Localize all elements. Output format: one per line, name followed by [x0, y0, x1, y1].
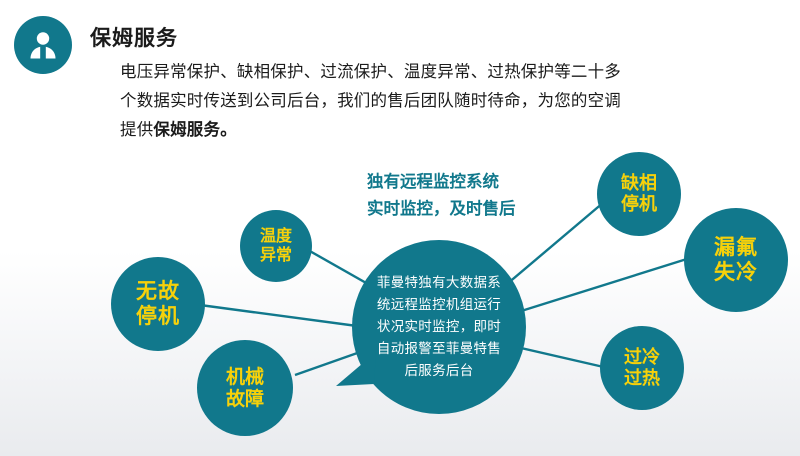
diagram-caption: 独有远程监控系统 实时监控，及时售后: [367, 168, 516, 222]
page-title: 保姆服务: [90, 22, 178, 52]
node-no-fault-stop-line-2: 停机: [136, 304, 180, 329]
node-mechanical-fault-line-1: 机械: [226, 366, 264, 388]
diagram-caption-line-1: 独有远程监控系统: [367, 168, 516, 195]
node-no-fault-stop[interactable]: 无故 停机: [111, 257, 205, 351]
header-description-line-1: 电压异常保护、缺相保护、过流保护、温度异常、过热保护等二十多: [120, 57, 760, 86]
node-refrigerant-leak-line-2: 失冷: [714, 260, 758, 285]
header-description-emphasis: 保姆服务。: [153, 120, 237, 139]
node-mechanical-fault[interactable]: 机械 故障: [197, 340, 293, 436]
node-overcool-overheat-line-2: 过热: [624, 368, 660, 389]
node-phase-loss-stop-line-1: 缺相: [621, 173, 657, 194]
node-refrigerant-leak[interactable]: 漏氟 失冷: [684, 208, 788, 312]
center-node-line-3: 状况实时监控，即时: [373, 316, 505, 338]
node-no-fault-stop-line-1: 无故: [136, 279, 180, 304]
diagram-caption-line-2: 实时监控，及时售后: [367, 195, 516, 222]
node-overcool-overheat-line-1: 过冷: [624, 347, 660, 368]
node-phase-loss-stop-line-2: 停机: [621, 194, 657, 215]
header-description-line-2: 个数据实时传送到公司后台，我们的售后团队随时待命，为您的空调: [120, 86, 760, 115]
node-mechanical-fault-line-2: 故障: [226, 388, 264, 410]
node-temp-abnormal-line-2: 异常: [260, 246, 292, 265]
center-node-line-4: 自动报警至菲曼特售: [373, 338, 505, 360]
node-overcool-overheat[interactable]: 过冷 过热: [600, 326, 684, 410]
center-node-line-5: 后服务后台: [373, 360, 505, 382]
center-node-line-2: 统远程监控机组运行: [373, 294, 505, 316]
callout-tail: [336, 348, 376, 398]
slide-canvas: 保姆服务 电压异常保护、缺相保护、过流保护、温度异常、过热保护等二十多 个数据实…: [0, 0, 800, 456]
node-phase-loss-stop[interactable]: 缺相 停机: [597, 152, 681, 236]
node-temp-abnormal-line-1: 温度: [260, 227, 292, 246]
node-temp-abnormal[interactable]: 温度 异常: [240, 210, 312, 282]
header-description-line-3-prefix: 提供: [120, 120, 153, 139]
node-refrigerant-leak-line-1: 漏氟: [714, 235, 758, 260]
center-node-line-1: 菲曼特独有大数据系: [373, 272, 505, 294]
center-node[interactable]: 菲曼特独有大数据系 统远程监控机组运行 状况实时监控，即时 自动报警至菲曼特售 …: [352, 240, 526, 414]
person-badge-icon: [14, 16, 72, 74]
center-node-text: 菲曼特独有大数据系 统远程监控机组运行 状况实时监控，即时 自动报警至菲曼特售 …: [373, 272, 505, 382]
header-description: 电压异常保护、缺相保护、过流保护、温度异常、过热保护等二十多 个数据实时传送到公…: [120, 57, 760, 144]
monitoring-diagram: 独有远程监控系统 实时监控，及时售后 菲曼特独有大数据系 统远程监控机组运行 状…: [0, 140, 800, 456]
